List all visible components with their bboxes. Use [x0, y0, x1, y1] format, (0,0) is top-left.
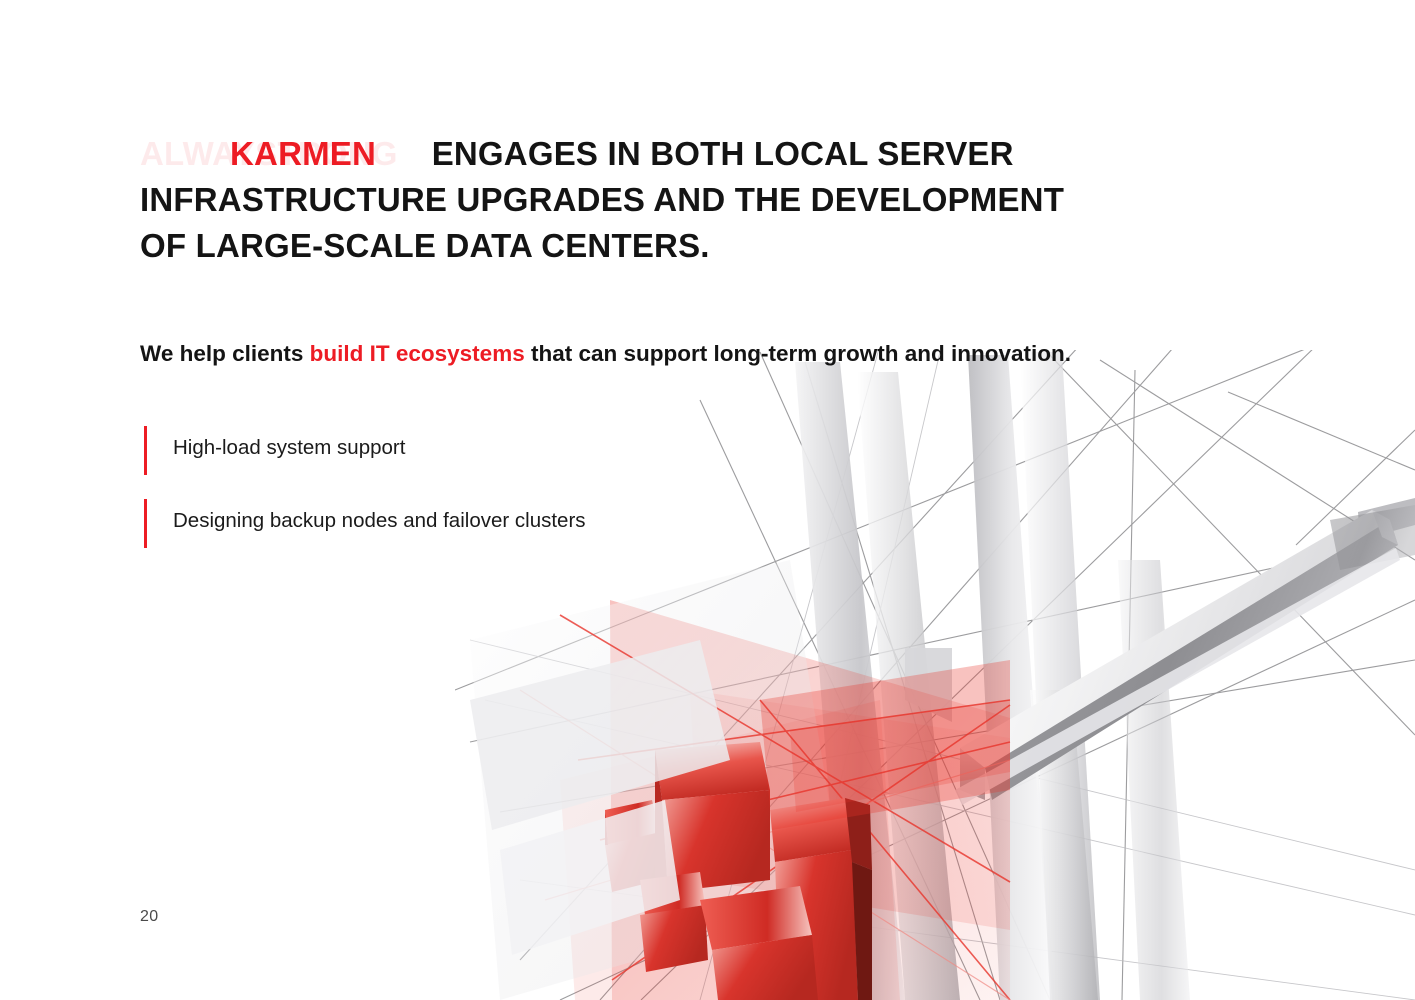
slide-content: ALWAYSTRONG KARMEN ENGAGES IN BOTH LOCAL…: [140, 0, 1280, 1000]
slide-root: ALWAYSTRONG KARMEN ENGAGES IN BOTH LOCAL…: [0, 0, 1415, 1000]
lede-part-2: that can support long-term growth and in…: [525, 341, 1071, 366]
bullet-label: Designing backup nodes and failover clus…: [173, 495, 940, 535]
title-line-1: ALWAYSTRONG KARMEN ENGAGES IN BOTH LOCAL…: [140, 131, 1200, 177]
lede-part-1: We help clients: [140, 341, 310, 366]
brand-ghost-group: ALWAYSTRONG KARMEN: [140, 131, 398, 177]
lede-paragraph: We help clients build IT ecosystems that…: [140, 335, 1275, 373]
list-item: High-load system support: [140, 422, 940, 495]
page-title: ALWAYSTRONG KARMEN ENGAGES IN BOTH LOCAL…: [140, 131, 1200, 269]
title-line-3: OF LARGE-SCALE DATA CENTERS.: [140, 223, 1200, 269]
bullet-list: High-load system support Designing backu…: [140, 422, 940, 568]
lede-highlight: build IT ecosystems: [310, 341, 525, 366]
list-item: Designing backup nodes and failover clus…: [140, 495, 940, 568]
brand-name: KARMEN: [230, 131, 376, 177]
title-line-2: INFRASTRUCTURE UPGRADES AND THE DEVELOPM…: [140, 177, 1200, 223]
bullet-bar-icon: [144, 499, 147, 548]
page-number: 20: [140, 908, 158, 926]
bullet-bar-icon: [144, 426, 147, 475]
bullet-label: High-load system support: [173, 422, 940, 462]
title-line-1-rest: ENGAGES IN BOTH LOCAL SERVER: [432, 135, 1014, 172]
